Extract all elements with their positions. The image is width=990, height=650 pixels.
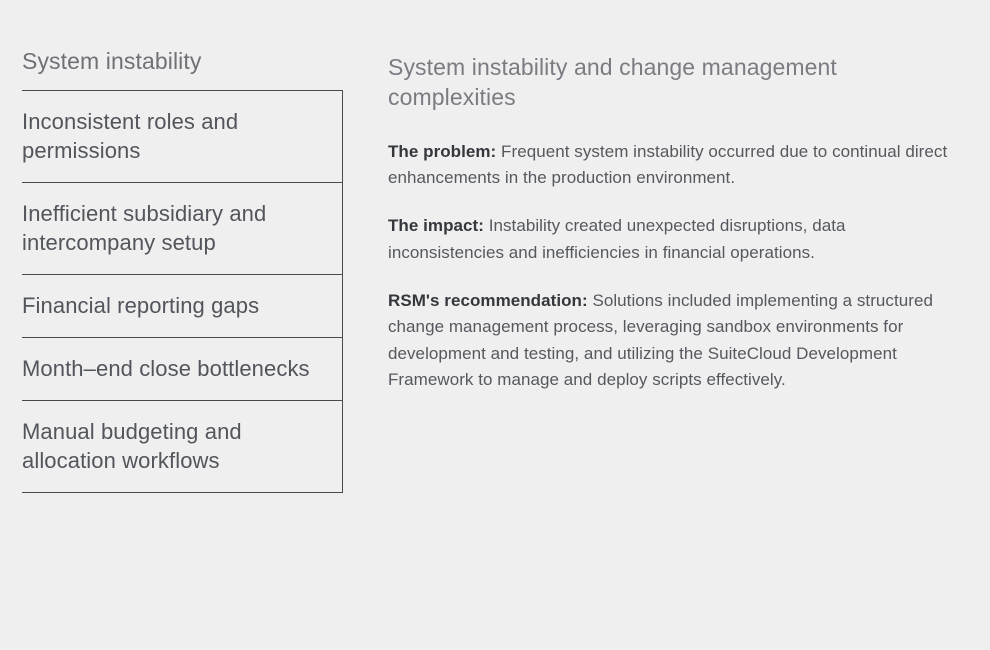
paragraph-recommendation: RSM's recommendation: Solutions included… [388, 288, 954, 393]
accordion-item-label: Month–end close bottlenecks [22, 356, 310, 381]
paragraph-problem: The problem: Frequent system instability… [388, 139, 954, 192]
challenges-panel: System instability Inconsistent roles an… [22, 48, 343, 493]
page-title: System instability [22, 48, 343, 76]
accordion-item-manual-budgeting[interactable]: Manual budgeting and allocation workflow… [22, 401, 342, 492]
detail-panel: System instability and change management… [388, 52, 954, 393]
accordion-item-month-end-close[interactable]: Month–end close bottlenecks [22, 338, 342, 401]
accordion-item-financial-reporting-gaps[interactable]: Financial reporting gaps [22, 275, 342, 338]
paragraph-lead-in: The problem: [388, 142, 496, 161]
accordion-item-label: Inconsistent roles and permissions [22, 109, 238, 163]
accordion-item-subsidiary-setup[interactable]: Inefficient subsidiary and intercompany … [22, 183, 342, 275]
paragraph-lead-in: RSM's recommendation: [388, 291, 588, 310]
accordion-item-label: Inefficient subsidiary and intercompany … [22, 201, 266, 255]
challenges-accordion: Inconsistent roles and permissions Ineff… [22, 90, 343, 493]
detail-heading: System instability and change management… [388, 52, 954, 113]
accordion-item-label: Manual budgeting and allocation workflow… [22, 419, 242, 473]
paragraph-impact: The impact: Instability created unexpect… [388, 213, 954, 266]
accordion-item-inconsistent-roles[interactable]: Inconsistent roles and permissions [22, 91, 342, 183]
accordion-item-label: Financial reporting gaps [22, 293, 259, 318]
slide-root: System instability Inconsistent roles an… [0, 0, 990, 650]
paragraph-lead-in: The impact: [388, 216, 484, 235]
